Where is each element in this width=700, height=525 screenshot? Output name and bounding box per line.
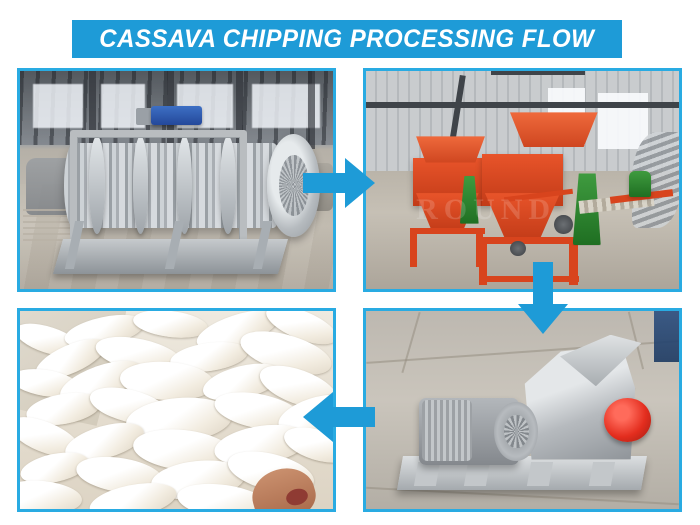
- arrow-left-step3-to-step4: [303, 392, 375, 442]
- page-title: CASSAVA CHIPPING PROCESSING FLOW: [100, 25, 595, 54]
- arrow-right-step1-to-step2: [303, 158, 375, 208]
- process-flow-infographic: CASSAVA CHIPPING PROCESSING FLOW: [0, 0, 700, 525]
- panel-cassava-hammer-mill-crusher[interactable]: [363, 308, 682, 512]
- arrow-down-step2-to-step3: [518, 262, 568, 334]
- photo-cassava-chipping-machines: ROUND: [366, 71, 679, 289]
- panel-cassava-washing-peeling-machine[interactable]: [17, 68, 336, 292]
- panel-cassava-chipping-machines[interactable]: ROUND: [363, 68, 682, 292]
- photo-cassava-washing-peeling-machine: [20, 71, 333, 289]
- photo-dried-cassava-chips: [20, 311, 333, 509]
- title-banner: CASSAVA CHIPPING PROCESSING FLOW: [72, 20, 622, 58]
- panel-dried-cassava-chips[interactable]: [17, 308, 336, 512]
- photo-cassava-hammer-mill-crusher: [366, 311, 679, 509]
